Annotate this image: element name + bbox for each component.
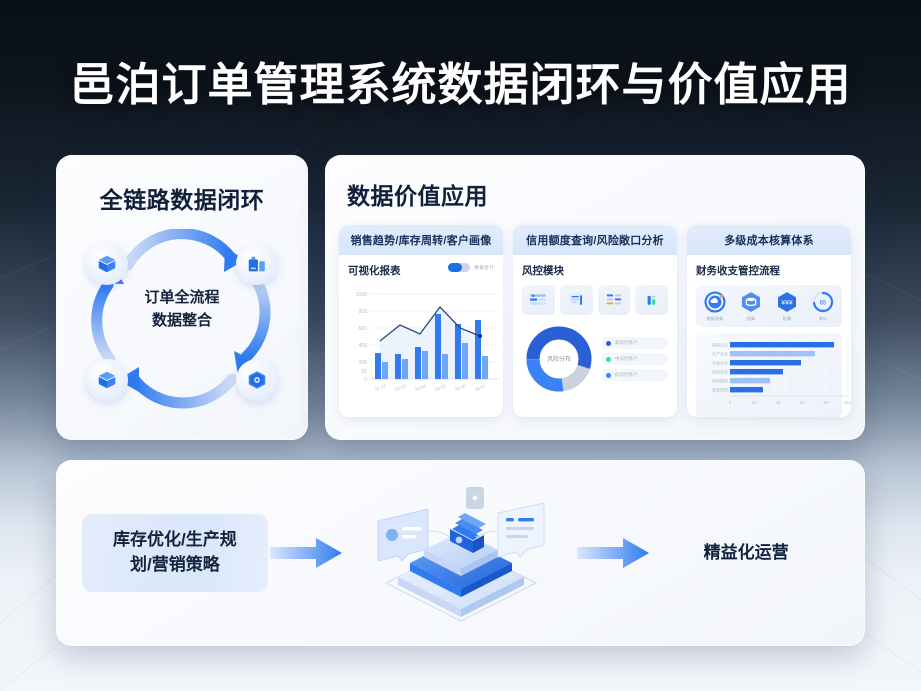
flow-input-line2: 划/营销策略 xyxy=(113,553,237,578)
slide-background: 邑泊订单管理系统数据闭环与价值应用 全链路数据闭环 xyxy=(0,0,921,691)
page-title: 邑泊订单管理系统数据闭环与价值应用 xyxy=(0,48,921,113)
finance-step-caption: 审计 xyxy=(819,316,827,322)
risk-donut-chart: 风险分布 xyxy=(522,322,596,396)
flow-row: 库存优化/生产规 划/营销策略 xyxy=(56,460,865,646)
svg-text:05-06: 05-06 xyxy=(454,383,467,392)
hexagon-money-icon: ¥¥¥ xyxy=(775,290,799,314)
flow-input-pill: 库存优化/生产规 划/营销策略 xyxy=(82,514,268,592)
svg-text:100: 100 xyxy=(843,400,851,405)
svg-text:管理费用: 管理费用 xyxy=(712,387,728,393)
finance-step-2[interactable]: 核算 xyxy=(735,290,767,322)
data-closed-loop-card: 全链路数据闭环 xyxy=(56,155,308,440)
panel-cost-accounting[interactable]: 多级成本核算体系 财务收支管控流程 数据采集 xyxy=(687,225,851,417)
svg-text:1000: 1000 xyxy=(356,292,367,298)
svg-text:20: 20 xyxy=(752,400,757,405)
finance-step-caption: 数据采集 xyxy=(707,316,724,322)
cycle-center-label: 订单全流程 数据整合 xyxy=(82,287,282,332)
tile-document[interactable] xyxy=(560,285,593,315)
svg-text:80: 80 xyxy=(824,400,829,405)
percent-ring-icon: 65 xyxy=(811,290,835,314)
svg-text:¥¥¥: ¥¥¥ xyxy=(781,300,793,307)
box-icon xyxy=(96,253,118,275)
panel-title-risk-module: 风控模块 xyxy=(522,263,668,278)
toggle-switch[interactable] xyxy=(448,263,470,272)
legend-label: 低风险客户 xyxy=(615,372,638,378)
node-box-bottom-left xyxy=(86,359,128,401)
svg-text:物流成本: 物流成本 xyxy=(712,369,728,375)
arrow-right-icon xyxy=(577,535,651,571)
flow-output-pill: 精益化运营 xyxy=(653,514,839,592)
svg-text:采购成本: 采购成本 xyxy=(712,342,728,348)
report-tile-icon xyxy=(528,292,548,308)
hexagon-core-icon xyxy=(246,369,268,391)
node-luggage-top-right xyxy=(236,243,278,285)
svg-text:50: 50 xyxy=(361,369,367,375)
card-heading-closed-loop: 全链路数据闭环 xyxy=(56,181,308,215)
panel-header-cost-accounting: 多级成本核算体系 xyxy=(687,225,851,255)
toggle-label: 数据合计 xyxy=(474,265,494,271)
svg-text:生产成本: 生产成本 xyxy=(712,351,728,357)
document-tile-icon xyxy=(566,292,586,308)
svg-text:800: 800 xyxy=(359,309,368,315)
arrow-right-icon xyxy=(270,535,344,571)
finance-step-3[interactable]: ¥¥¥ 结算 xyxy=(771,290,803,322)
panel-sales-trend[interactable]: 销售趋势/库存周转/客户画像 可视化报表 数据合计 xyxy=(339,225,503,417)
finance-step-1[interactable]: 数据采集 xyxy=(699,290,731,322)
cycle-center-line1: 订单全流程 xyxy=(82,287,282,310)
luggage-icon xyxy=(246,253,268,275)
svg-text:40: 40 xyxy=(776,400,781,405)
hexagon-db-icon xyxy=(739,290,763,314)
node-hexagon-bottom-right xyxy=(236,359,278,401)
cycle-center-line2: 数据整合 xyxy=(82,310,282,333)
svg-text:04-05: 04-05 xyxy=(434,383,447,392)
panel-header-credit-risk: 信用额度查询/风险敞口分析 xyxy=(513,225,677,255)
cost-bar-chart: 采购成本 生产成本 仓储成本 物流成本 销售费用 管理费用 0 20 40 xyxy=(696,333,842,417)
flow-input-line1: 库存优化/生产规 xyxy=(113,528,237,553)
cloud-ring-icon xyxy=(703,290,727,314)
svg-text:03-04: 03-04 xyxy=(414,383,427,392)
finance-icon-row: 数据采集 核算 xyxy=(696,285,842,327)
svg-text:06-07: 06-07 xyxy=(474,383,487,392)
legend-label: 高风险客户 xyxy=(615,340,638,346)
legend-label: 中风险客户 xyxy=(615,356,638,362)
report-toggle[interactable]: 数据合计 xyxy=(448,263,494,272)
cycle-diagram: 订单全流程 数据整合 xyxy=(82,229,282,409)
legend-item[interactable]: 中风险客户 xyxy=(602,353,668,365)
svg-text:0: 0 xyxy=(364,377,367,383)
svg-text:400: 400 xyxy=(359,343,368,349)
panel-header-sales-trend: 销售趋势/库存周转/客户画像 xyxy=(339,225,503,255)
finance-step-caption: 结算 xyxy=(783,316,791,322)
tile-report[interactable] xyxy=(522,285,555,315)
flow-arrow-left xyxy=(268,535,346,571)
flow-output-label: 精益化运营 xyxy=(704,541,789,566)
panel-body-cost-accounting: 财务收支管控流程 数据采集 xyxy=(687,255,851,417)
data-stack-illustration xyxy=(346,473,576,633)
svg-text:0: 0 xyxy=(729,400,732,405)
risk-tiles xyxy=(522,285,668,315)
legend-item[interactable]: 低风险客户 xyxy=(602,369,668,381)
panel-body-credit-risk: 风控模块 xyxy=(513,255,677,417)
combo-bar-line-chart: 1000 800 600 400 200 50 0 xyxy=(348,284,494,402)
node-box-top-left xyxy=(86,243,128,285)
svg-text:65: 65 xyxy=(820,301,827,307)
panel-title-finance-flow: 财务收支管控流程 xyxy=(696,263,842,278)
panel-body-sales-trend: 可视化报表 数据合计 xyxy=(339,255,503,417)
finance-step-caption: 核算 xyxy=(747,316,755,322)
tile-chart[interactable] xyxy=(635,285,668,315)
panel-credit-risk[interactable]: 信用额度查询/风险敞口分析 风控模块 xyxy=(513,225,677,417)
svg-text:01-02: 01-02 xyxy=(374,383,387,392)
svg-text:仓储成本: 仓储成本 xyxy=(712,360,728,366)
risk-legend: 高风险客户 中风险客户 低风险客户 xyxy=(602,337,668,381)
card-heading-value-application: 数据价值应用 xyxy=(347,177,865,211)
legend-item[interactable]: 高风险客户 xyxy=(602,337,668,349)
box-icon xyxy=(96,369,118,391)
risk-distribution-row: 风险分布 高风险客户 中风险客户 低风险客户 xyxy=(522,322,668,396)
chart-tile-icon xyxy=(642,292,662,308)
svg-text:600: 600 xyxy=(359,326,368,332)
svg-text:60: 60 xyxy=(800,400,805,405)
finance-step-4[interactable]: 65 审计 xyxy=(807,290,839,322)
svg-text:200: 200 xyxy=(359,360,368,366)
list-tile-icon xyxy=(604,292,624,308)
tile-list[interactable] xyxy=(598,285,631,315)
value-panels: 销售趋势/库存周转/客户画像 可视化报表 数据合计 xyxy=(339,225,851,417)
svg-text:02-03: 02-03 xyxy=(394,383,407,392)
lean-operation-flow-card: 库存优化/生产规 划/营销策略 xyxy=(56,460,865,646)
svg-text:销售费用: 销售费用 xyxy=(712,378,728,384)
flow-arrow-right xyxy=(576,535,654,571)
data-value-application-card: 数据价值应用 销售趋势/库存周转/客户画像 可视化报表 数据合计 xyxy=(325,155,865,440)
donut-center-label: 风险分布 xyxy=(547,355,571,363)
